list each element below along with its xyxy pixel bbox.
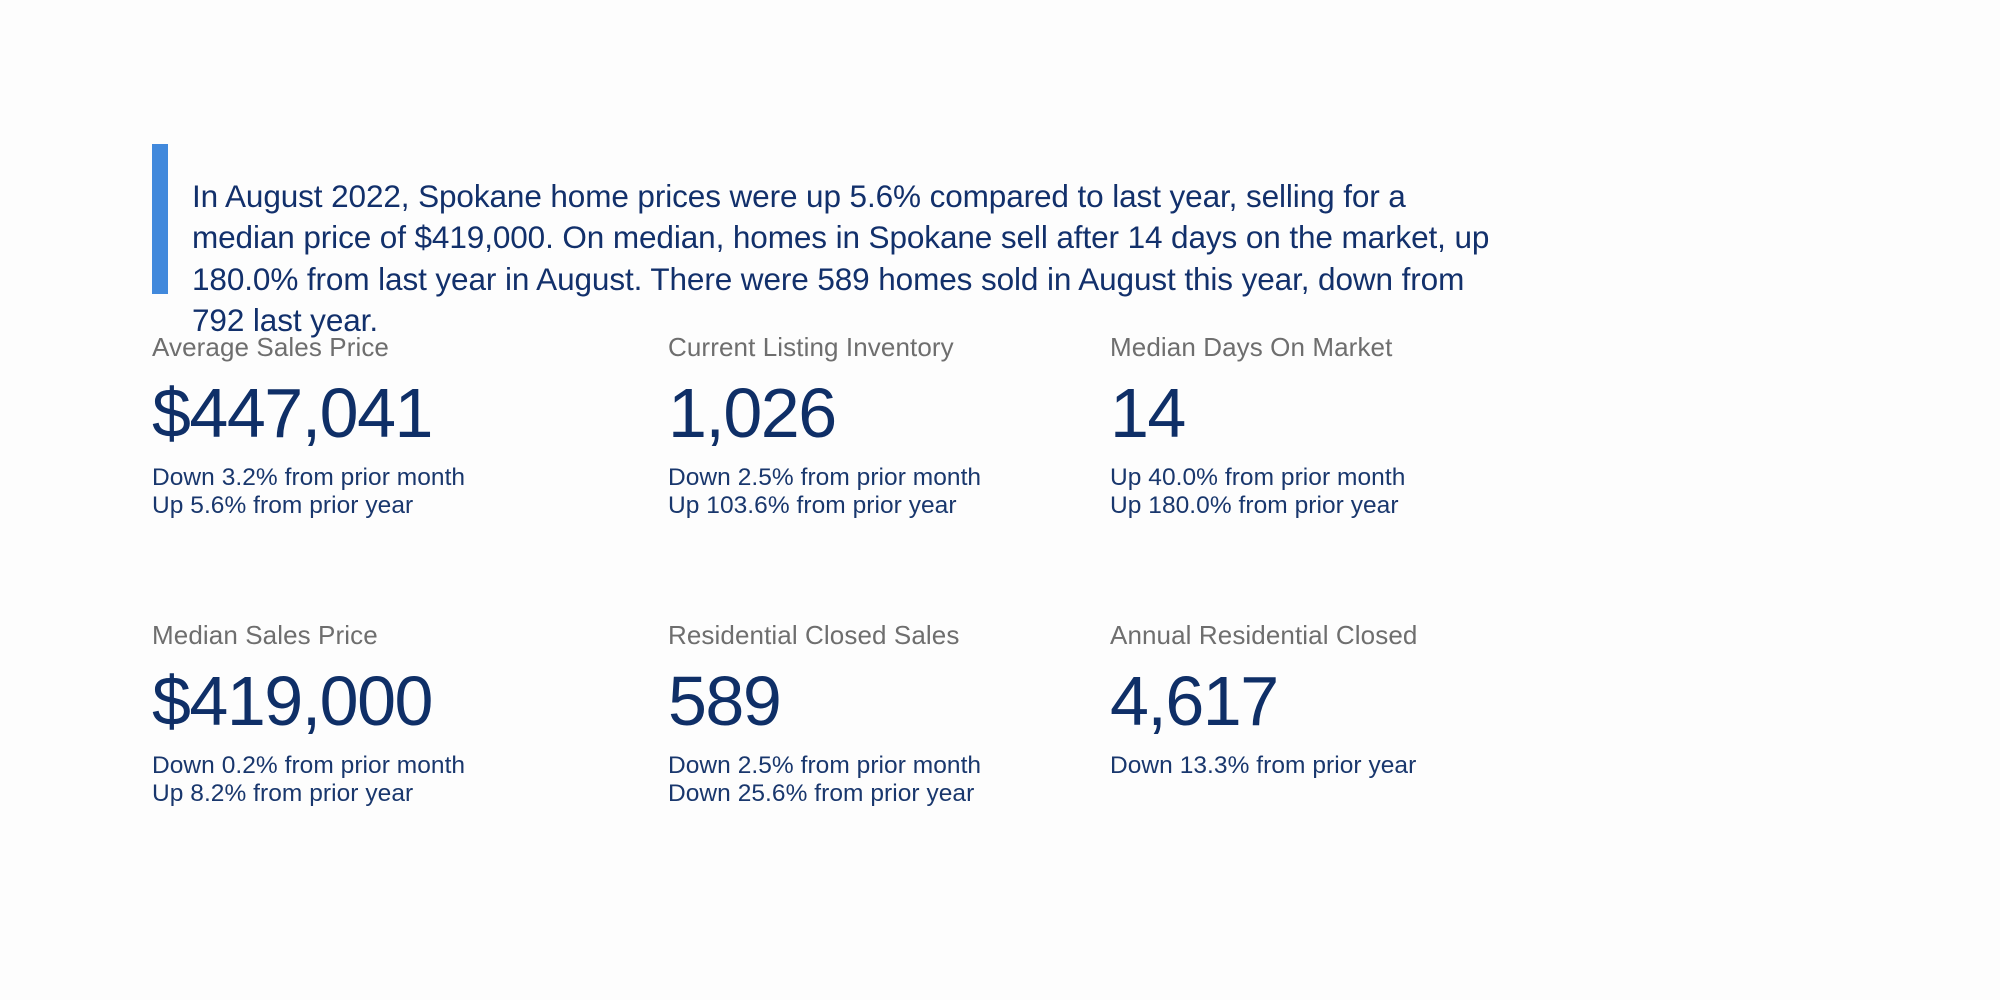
accent-bar [152, 144, 168, 294]
stat-label: Current Listing Inventory [668, 332, 1138, 362]
stat-deltas: Down 2.5% from prior month Up 103.6% fro… [668, 464, 1138, 519]
stats-grid: Average Sales Price $447,041 Down 3.2% f… [152, 332, 1492, 908]
stat-value: 589 [668, 664, 1138, 738]
stat-deltas: Down 2.5% from prior month Down 25.6% fr… [668, 752, 1138, 807]
stat-delta-month: Up 40.0% from prior month [1110, 464, 1492, 492]
stat-delta-month: Down 0.2% from prior month [152, 752, 622, 780]
stat-label: Median Days On Market [1110, 332, 1492, 362]
stat-label: Residential Closed Sales [668, 620, 1138, 650]
stat-value: $447,041 [152, 376, 622, 450]
stat-label: Median Sales Price [152, 620, 622, 650]
stat-card-annual-residential-closed: Annual Residential Closed 4,617 Down 13.… [1110, 620, 1492, 780]
stat-deltas: Down 0.2% from prior month Up 8.2% from … [152, 752, 622, 807]
stat-value: 1,026 [668, 376, 1138, 450]
stat-deltas: Down 3.2% from prior month Up 5.6% from … [152, 464, 622, 519]
market-summary-text: In August 2022, Spokane home prices were… [192, 176, 1492, 342]
stat-delta-month: Down 13.3% from prior year [1110, 752, 1492, 780]
stat-value: $419,000 [152, 664, 622, 738]
stat-delta-year: Up 5.6% from prior year [152, 492, 622, 520]
stat-value: 14 [1110, 376, 1492, 450]
stat-card-residential-closed-sales: Residential Closed Sales 589 Down 2.5% f… [668, 620, 1138, 807]
stats-row: Average Sales Price $447,041 Down 3.2% f… [152, 332, 1492, 620]
stat-delta-year: Up 103.6% from prior year [668, 492, 1138, 520]
stat-label: Annual Residential Closed [1110, 620, 1492, 650]
stat-deltas: Up 40.0% from prior month Up 180.0% from… [1110, 464, 1492, 519]
stat-value: 4,617 [1110, 664, 1492, 738]
stats-row: Median Sales Price $419,000 Down 0.2% fr… [152, 620, 1492, 908]
stat-label: Average Sales Price [152, 332, 622, 362]
stat-delta-year: Down 25.6% from prior year [668, 780, 1138, 808]
stat-card-median-sales-price: Median Sales Price $419,000 Down 0.2% fr… [152, 620, 622, 807]
stat-card-average-sales-price: Average Sales Price $447,041 Down 3.2% f… [152, 332, 622, 519]
stat-card-median-days-on-market: Median Days On Market 14 Up 40.0% from p… [1110, 332, 1492, 519]
stat-delta-month: Down 2.5% from prior month [668, 752, 1138, 780]
stat-delta-month: Down 3.2% from prior month [152, 464, 622, 492]
content-viewport: In August 2022, Spokane home prices were… [0, 0, 1492, 1000]
stat-delta-year: Up 8.2% from prior year [152, 780, 622, 808]
stat-deltas: Down 13.3% from prior year [1110, 752, 1492, 780]
page-root: In August 2022, Spokane home prices were… [0, 0, 2000, 1000]
stat-card-current-listing-inventory: Current Listing Inventory 1,026 Down 2.5… [668, 332, 1138, 519]
stat-delta-month: Down 2.5% from prior month [668, 464, 1138, 492]
stat-delta-year: Up 180.0% from prior year [1110, 492, 1492, 520]
